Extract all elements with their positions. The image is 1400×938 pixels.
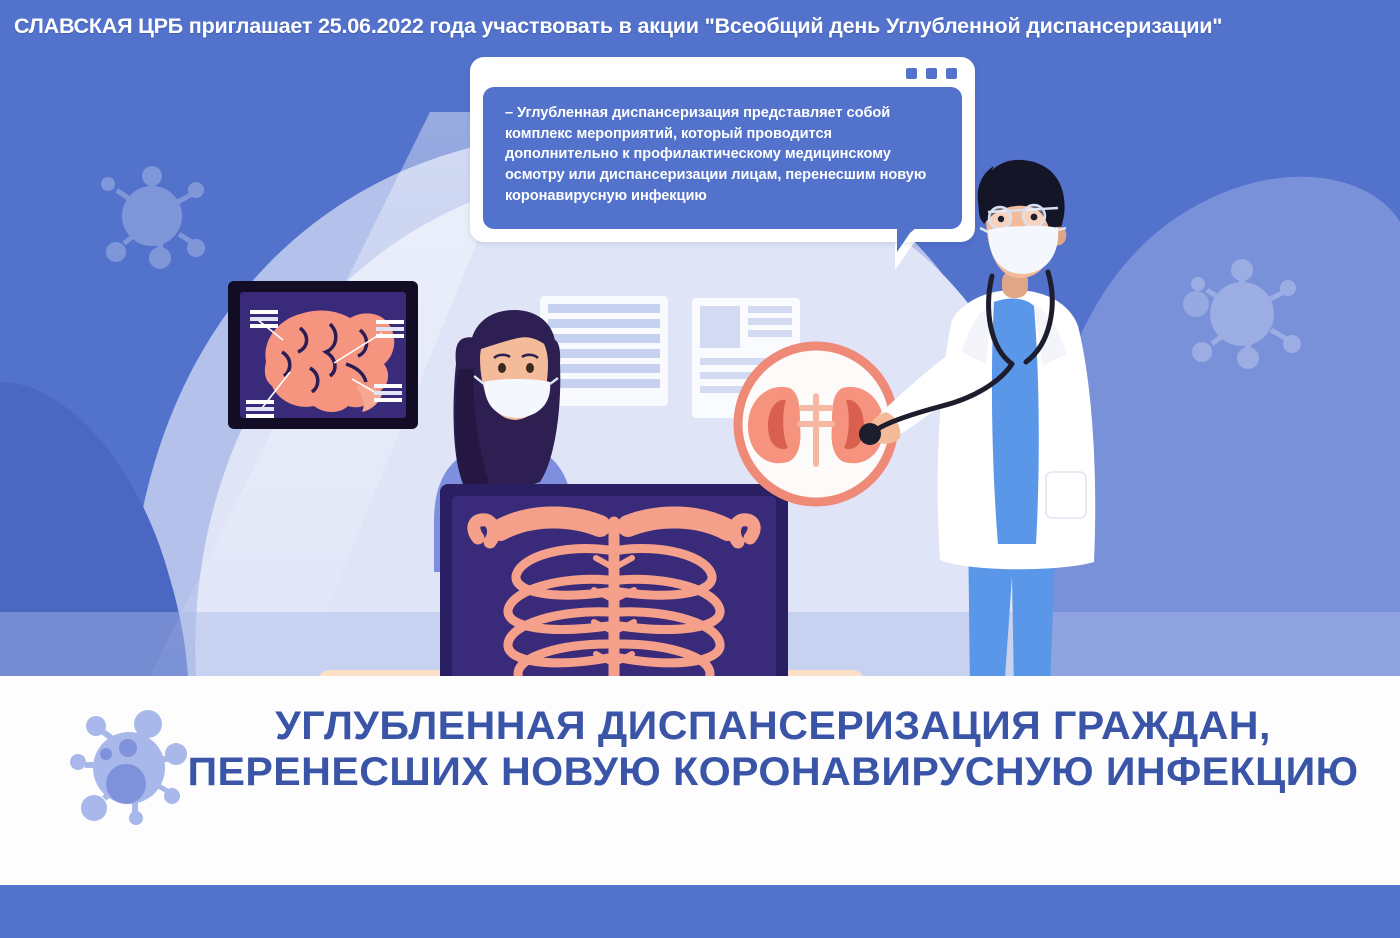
brain-label-left-top bbox=[250, 310, 278, 328]
brain-scan-frame bbox=[228, 281, 418, 429]
brain-label-left-bottom bbox=[246, 400, 274, 418]
window-dot-1 bbox=[906, 68, 917, 79]
header-bar: СЛАВСКАЯ ЦРБ приглашает 25.06.2022 года … bbox=[0, 0, 1400, 52]
banner-title-line-1: УГЛУБЛЕННАЯ ДИСПАНСЕРИЗАЦИЯ ГРАЖДАН, bbox=[158, 704, 1388, 750]
speech-bubble-inner: – Углубленная диспансеризация представля… bbox=[483, 87, 962, 229]
poster-root: СЛАВСКАЯ ЦРБ приглашает 25.06.2022 года … bbox=[0, 0, 1400, 938]
window-dot-3 bbox=[946, 68, 957, 79]
brain-label-right-bottom bbox=[374, 384, 402, 402]
speech-bubble: – Углубленная диспансеризация представля… bbox=[470, 57, 975, 242]
footer-strip bbox=[0, 885, 1400, 938]
window-dots bbox=[906, 68, 957, 79]
brain-label-right-top bbox=[376, 320, 404, 338]
doctor-scrub-top bbox=[992, 299, 1039, 544]
chest-xray-monitor bbox=[440, 484, 788, 676]
speech-bubble-text: – Углубленная диспансеризация представля… bbox=[505, 103, 940, 207]
banner-title-line-2: ПЕРЕНЕСШИХ НОВУЮ КОРОНАВИРУСНУЮ ИНФЕКЦИЮ bbox=[158, 750, 1388, 796]
doctor-pocket bbox=[1046, 472, 1086, 518]
page-title: СЛАВСКАЯ ЦРБ приглашает 25.06.2022 года … bbox=[0, 14, 1222, 39]
virus-right-small bbox=[1183, 291, 1209, 317]
speech-bubble-tail-inner bbox=[897, 222, 923, 252]
bottom-banner: УГЛУБЛЕННАЯ ДИСПАНСЕРИЗАЦИЯ ГРАЖДАН, ПЕР… bbox=[0, 676, 1400, 885]
window-dot-2 bbox=[926, 68, 937, 79]
banner-title: УГЛУБЛЕННАЯ ДИСПАНСЕРИЗАЦИЯ ГРАЖДАН, ПЕР… bbox=[176, 704, 1370, 795]
stethoscope-chestpiece bbox=[859, 423, 881, 445]
